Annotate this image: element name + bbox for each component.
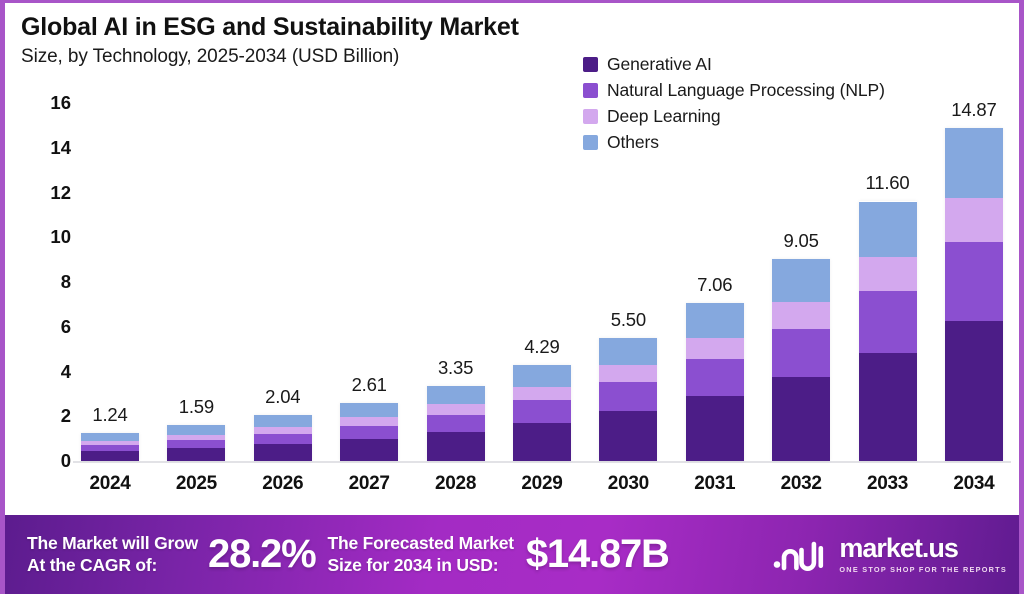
bar-segment-0 (513, 423, 571, 461)
bar-group[interactable]: 14.87 (941, 103, 1007, 461)
x-axis-tick: 2031 (682, 473, 748, 495)
bar-stack (427, 386, 485, 461)
x-axis-tick: 2029 (509, 473, 575, 495)
bar-value-label: 14.87 (951, 99, 996, 121)
bar-stack (945, 128, 1003, 461)
bar-value-label: 9.05 (784, 230, 819, 252)
bar-stack (254, 415, 312, 461)
bar-value-label: 2.61 (352, 374, 387, 396)
bar-segment-2 (772, 302, 830, 329)
bar-segment-0 (81, 451, 139, 461)
page-title: Global AI in ESG and Sustainability Mark… (21, 13, 1019, 41)
bar-value-label: 5.50 (611, 309, 646, 331)
bar-group[interactable]: 1.59 (163, 103, 229, 461)
bar-segment-1 (945, 242, 1003, 322)
legend-label: Natural Language Processing (NLP) (607, 80, 885, 101)
cagr-label-line1: The Market will Grow (27, 533, 198, 554)
y-axis-tick: 4 (23, 361, 71, 383)
y-axis-tick: 12 (23, 182, 71, 204)
bar-stack (599, 338, 657, 461)
cagr-value: 28.2% (208, 532, 315, 577)
market-us-logo[interactable]: market.us ONE STOP SHOP FOR THE REPORTS (773, 535, 1013, 574)
bar-segment-1 (167, 440, 225, 448)
bar-segment-1 (254, 434, 312, 444)
bar-group[interactable]: 9.05 (768, 103, 834, 461)
x-axis: 2024202520262027202820292030203120322033… (77, 473, 1007, 495)
y-axis-tick: 2 (23, 405, 71, 427)
bar-segment-3 (254, 415, 312, 427)
bar-segment-3 (599, 338, 657, 365)
x-axis-tick: 2032 (768, 473, 834, 495)
bar-value-label: 11.60 (866, 172, 910, 194)
bar-segment-1 (427, 415, 485, 432)
bar-stack (167, 425, 225, 461)
bar-series-container: 1.241.592.042.613.354.295.507.069.0511.6… (77, 103, 1007, 461)
bar-value-label: 3.35 (438, 357, 473, 379)
bottom-banner: The Market will Grow At the CAGR of: 28.… (5, 515, 1024, 594)
bar-segment-3 (772, 259, 830, 302)
bar-value-label: 1.24 (92, 404, 127, 426)
bar-segment-3 (167, 425, 225, 434)
bar-segment-1 (513, 400, 571, 422)
forecast-size-label: The Forecasted Market Size for 2034 in U… (327, 533, 513, 576)
bar-segment-1 (772, 329, 830, 377)
bar-segment-3 (81, 433, 139, 441)
legend-item-0[interactable]: Generative AI (583, 51, 885, 77)
bar-segment-0 (859, 353, 917, 461)
bar-group[interactable]: 1.24 (77, 103, 143, 461)
logo-name: market.us (839, 535, 1007, 562)
bar-stack (513, 365, 571, 461)
forecast-size-value: $14.87B (526, 532, 669, 577)
plot-area: 1.241.592.042.613.354.295.507.069.0511.6… (77, 103, 1007, 461)
bar-stack (686, 303, 744, 461)
logo-tagline: ONE STOP SHOP FOR THE REPORTS (839, 565, 1007, 574)
bar-value-label: 4.29 (524, 336, 559, 358)
bar-stack (81, 433, 139, 461)
bar-segment-0 (254, 444, 312, 461)
legend-label: Generative AI (607, 54, 712, 75)
bar-segment-0 (945, 321, 1003, 461)
bar-group[interactable]: 7.06 (682, 103, 748, 461)
bar-value-label: 2.04 (265, 386, 300, 408)
y-axis-tick: 0 (23, 450, 71, 472)
y-axis-tick: 10 (23, 226, 71, 248)
bar-segment-3 (686, 303, 744, 338)
bar-group[interactable]: 5.50 (595, 103, 661, 461)
bar-stack (772, 259, 830, 461)
x-axis-tick: 2024 (77, 473, 143, 495)
bar-segment-3 (945, 128, 1003, 198)
bar-segment-1 (340, 426, 398, 439)
bar-segment-3 (340, 403, 398, 418)
bar-value-label: 1.59 (179, 396, 214, 418)
bar-segment-2 (859, 257, 917, 292)
bar-group[interactable]: 3.35 (423, 103, 489, 461)
bar-segment-0 (772, 377, 830, 461)
bar-segment-3 (427, 386, 485, 404)
x-axis-tick: 2034 (941, 473, 1007, 495)
bar-segment-2 (427, 404, 485, 415)
bar-segment-3 (859, 202, 917, 257)
x-axis-baseline (73, 461, 1011, 463)
legend-item-1[interactable]: Natural Language Processing (NLP) (583, 77, 885, 103)
bar-segment-0 (167, 448, 225, 461)
bar-segment-1 (599, 382, 657, 411)
size-label-line1: The Forecasted Market (327, 533, 513, 554)
legend-swatch-icon (583, 57, 598, 72)
bar-stack (340, 403, 398, 461)
bar-group[interactable]: 2.04 (250, 103, 316, 461)
bar-segment-2 (945, 198, 1003, 241)
bar-segment-0 (599, 411, 657, 461)
bar-segment-3 (513, 365, 571, 387)
bar-stack (859, 201, 917, 461)
cagr-label-line2: At the CAGR of: (27, 555, 198, 576)
y-axis-tick: 14 (23, 137, 71, 159)
bar-segment-2 (513, 387, 571, 400)
bar-group[interactable]: 11.60 (855, 103, 921, 461)
x-axis-tick: 2028 (423, 473, 489, 495)
market-us-logo-icon (773, 538, 829, 572)
bar-segment-0 (340, 439, 398, 461)
infographic-page: Global AI in ESG and Sustainability Mark… (0, 0, 1024, 594)
y-axis-tick: 16 (23, 92, 71, 114)
x-axis-tick: 2025 (163, 473, 229, 495)
logo-text: market.us ONE STOP SHOP FOR THE REPORTS (839, 535, 1007, 574)
bar-value-label: 7.06 (697, 274, 732, 296)
bar-segment-2 (599, 365, 657, 382)
y-axis-tick: 8 (23, 271, 71, 293)
x-axis-tick: 2033 (855, 473, 921, 495)
bar-segment-0 (427, 432, 485, 461)
x-axis-tick: 2027 (336, 473, 402, 495)
x-axis-tick: 2026 (250, 473, 316, 495)
bar-group[interactable]: 2.61 (336, 103, 402, 461)
legend-swatch-icon (583, 83, 598, 98)
size-label-line2: Size for 2034 in USD: (327, 555, 513, 576)
bar-group[interactable]: 4.29 (509, 103, 575, 461)
bar-segment-1 (859, 291, 917, 353)
y-axis: 0246810121416 (23, 103, 71, 461)
y-axis-tick: 6 (23, 316, 71, 338)
bar-segment-2 (340, 417, 398, 425)
bar-segment-2 (686, 338, 744, 359)
cagr-label: The Market will Grow At the CAGR of: (27, 533, 198, 576)
bar-segment-0 (686, 396, 744, 461)
bar-segment-1 (686, 359, 744, 396)
x-axis-tick: 2030 (595, 473, 661, 495)
